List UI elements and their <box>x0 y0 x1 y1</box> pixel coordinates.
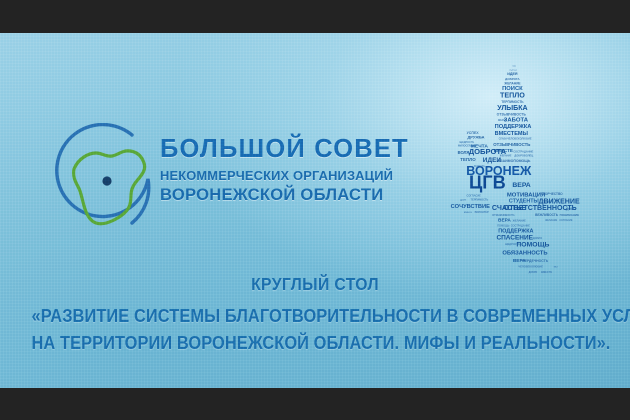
word-cloud-word: ТЕРПИМОСТЬ <box>471 198 489 201</box>
word-cloud-word: СЕРДЕЧНОСТЬ <box>522 259 548 263</box>
word-cloud-word: ВЕРА <box>498 218 511 224</box>
word-cloud-word: СОГЛАСИЕ <box>467 193 482 197</box>
word-cloud-word: СОГЛАСИЕ <box>559 219 573 222</box>
word-cloud-word: ВЕРА <box>512 182 530 189</box>
word-cloud-word: ДОБРОТА <box>505 77 520 81</box>
word-cloud-word: МНОГО <box>464 212 473 214</box>
organization-logo: БОЛЬШОЙ СОВЕТ НЕКОММЕРЧЕСКИХ ОРГАНИЗАЦИЙ… <box>52 123 392 235</box>
title-line-3: НА ТЕРРИТОРИИ ВОРОНЕЖСКОЙ ОБЛАСТИ. МИФЫ … <box>32 334 599 352</box>
word-cloud-word: ДОБРОВОЛЕЦ <box>514 154 533 158</box>
word-cloud-word: ЦГВ <box>469 173 506 193</box>
word-cloud-word: ВОЛОНТЁР <box>475 211 489 214</box>
word-cloud-word: СОЧУВСТВИЕ <box>451 204 490 210</box>
word-cloud-word: СПАСЕНИЕ <box>496 235 533 242</box>
word-cloud-word: ДРУЖБА <box>467 134 484 139</box>
word-cloud-word: ТЕПЛО <box>460 157 476 162</box>
word-cloud-word: МОТИВАЦИЯ <box>507 192 545 198</box>
word-cloud-word: СОСТРАДАНИЕ <box>513 150 533 154</box>
word-cloud-word: УЛЫБКА <box>497 105 527 112</box>
word-cloud-word: СОСТРАДАНИЕ <box>511 225 530 228</box>
word-cloud-word: ПОИСК <box>509 70 518 72</box>
word-cloud-word: ИДЕЯ <box>507 72 518 76</box>
word-cloud-word: ЖЕЛАНИЕ <box>545 219 558 222</box>
word-cloud-word: ВМЕСТЕМЫ <box>495 131 529 137</box>
word-cloud-word: ПОДДЕРЖКА <box>495 124 532 130</box>
word-cloud-word: ТЕПЛО <box>500 91 525 99</box>
word-cloud-word: ДОБРО <box>533 236 543 240</box>
word-cloud-word: ЧЕЛОВЕКОЛЮБИЕ <box>507 137 532 141</box>
word-cloud-word: ПОМОЩЬ <box>516 242 549 249</box>
word-cloud-word: ПОМОЩЬ <box>497 225 509 228</box>
word-cloud-word: ЩЕДРОСТЬ <box>460 141 475 144</box>
word-cloud-word: ОТЗЫВЧИВОСТЬ <box>497 113 527 117</box>
logo-line-3: ВОРОНЕЖСКОЙ ОБЛАСТИ <box>160 187 392 204</box>
word-cloud-word: ТЕРПИМОСТЬ <box>501 100 524 104</box>
word-cloud-word: ЗАБОТА <box>504 117 529 123</box>
word-cloud-word: ИДЕИ <box>483 157 502 164</box>
slide-canvas: БОЛЬШОЙ СОВЕТ НЕКОММЕРЧЕСКИХ ОРГАНИЗАЦИЙ… <box>0 0 630 420</box>
word-cloud-word: ДОБРОТА <box>469 147 507 156</box>
word-cloud-word: ВОЛЯ <box>458 150 470 155</box>
word-cloud-word: ДОБРО <box>529 271 538 274</box>
word-cloud-word: ОТЗЫВЧИВОСТЬ <box>493 142 530 147</box>
word-cloud-word: ДВИЖЕНИЕ <box>539 198 580 205</box>
word-cloud-word: ОТЗЫВЧИВОСТЬ <box>492 213 515 217</box>
logo-line-1: БОЛЬШОЙ СОВЕТ <box>160 137 392 163</box>
logo-wordmark: БОЛЬШОЙ СОВЕТ НЕКОММЕРЧЕСКИХ ОРГАНИЗАЦИЙ… <box>160 137 392 203</box>
word-cloud-word: ДОЛГ <box>460 199 467 201</box>
logo-line-2: НЕКОММЕРЧЕСКИХ ОРГАНИЗАЦИЙ <box>160 169 389 182</box>
word-cloud-word: ВМЕСТЕ <box>541 270 552 274</box>
word-cloud-word: ТВОРЧЕСТВО <box>541 192 563 196</box>
word-cloud-word: МЫ <box>512 66 516 68</box>
dove-word-cloud: МЫПОИСКИДЕЯДОБРОТАЖЕЛАНИЕПОИСКТЕПЛОТЕРПИ… <box>396 61 630 283</box>
word-cloud-word: МЫ <box>554 267 558 269</box>
event-title-block: КРУГЛЫЙ СТОЛ «РАЗВИТИЕ СИСТЕМЫ БЛАГОТВОР… <box>0 276 630 352</box>
word-cloud-word: ЖЕЛАНИЕ <box>503 81 520 85</box>
letterbox-bar-top <box>0 0 630 33</box>
word-cloud-word: ВЗАИМОПОМОЩЬ <box>498 159 531 163</box>
word-cloud-word: ЖЕЛАНИЕ <box>513 219 527 223</box>
word-cloud-word: ОБЯЗАННОСТЬ <box>502 251 547 257</box>
title-line-2: «РАЗВИТИЕ СИСТЕМЫ БЛАГОТВОРИТЕЛЬНОСТИ В … <box>32 307 599 325</box>
word-cloud-word: ЧЕЛОВЕКОЛЮБИЕ <box>518 265 543 269</box>
voronezh-region-circle-emblem-icon <box>52 123 164 235</box>
title-line-1: КРУГЛЫЙ СТОЛ <box>32 276 599 294</box>
word-cloud-word: СЛАВА <box>499 138 508 141</box>
word-cloud-word: ПОНИМАНИЕ <box>560 213 580 217</box>
letterbox-bar-bottom <box>0 388 630 420</box>
word-cloud-word: ДОЛГ <box>566 207 575 211</box>
word-cloud-word: ВЕЖЛИВОСТЬ <box>535 213 559 217</box>
word-cloud-word: ПОДДЕРЖКА <box>498 228 533 234</box>
presentation-slide: БОЛЬШОЙ СОВЕТ НЕКОММЕРЧЕСКИХ ОРГАНИЗАЦИЙ… <box>0 33 630 388</box>
